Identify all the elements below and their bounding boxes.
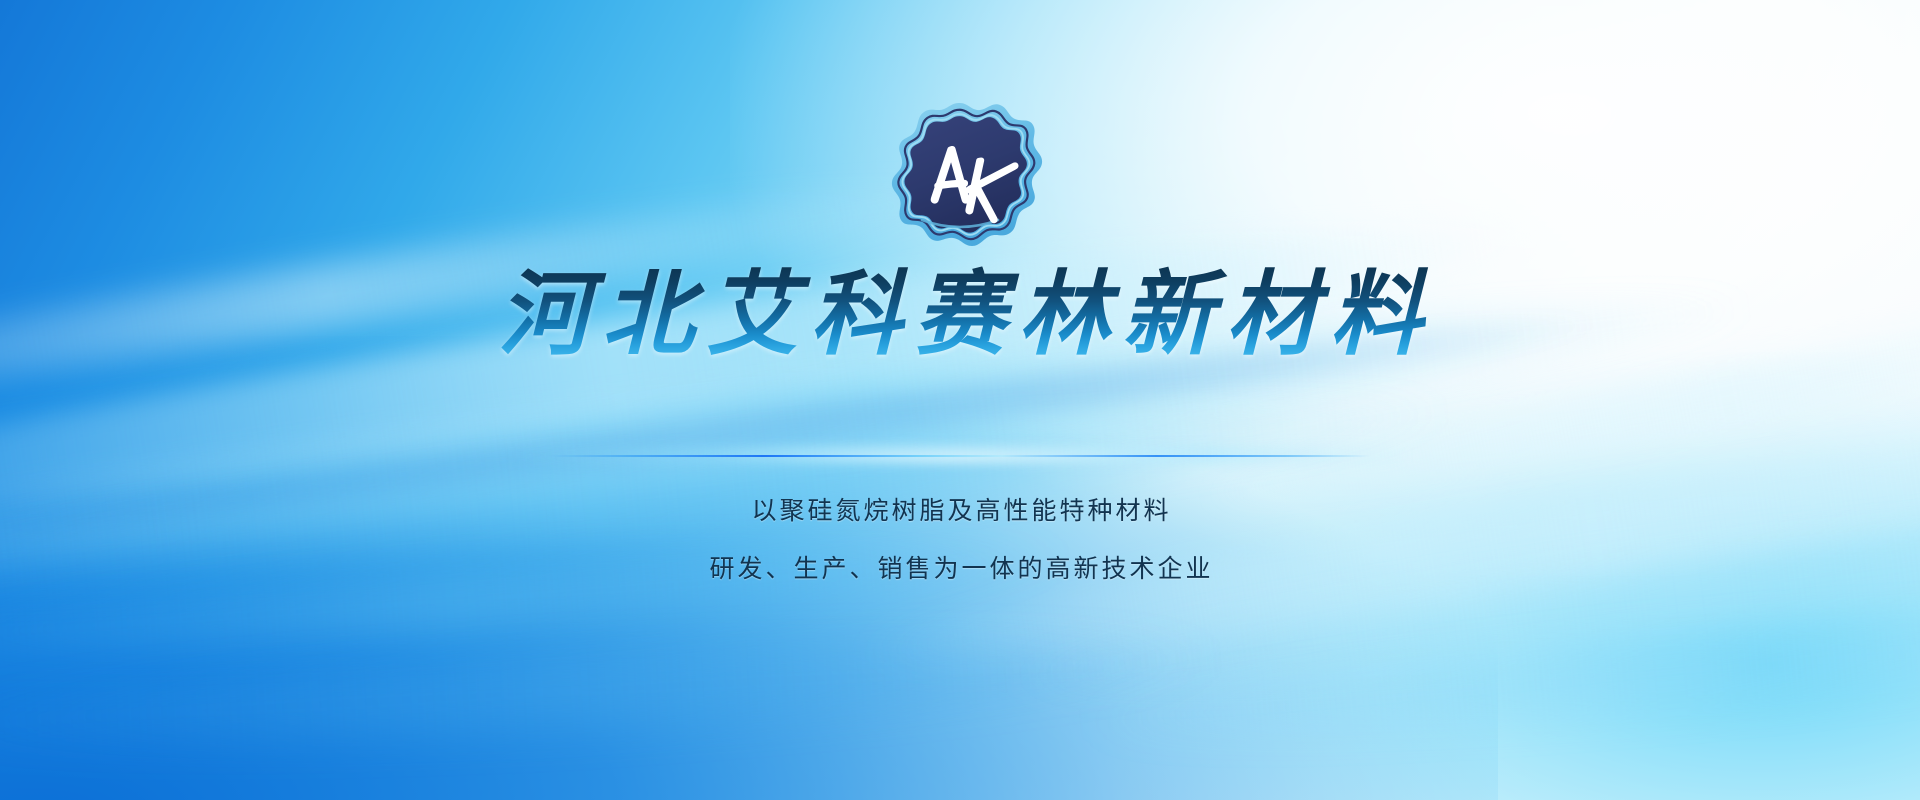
company-tagline: 以聚硅氮烷树脂及高性能特种材料 研发、生产、销售为一体的高新技术企业 — [706, 491, 1213, 585]
ak-seal-badge-icon — [880, 100, 1040, 260]
company-title: 河北艾科赛林新材料 — [486, 266, 1434, 364]
tagline-line-2: 研发、生产、销售为一体的高新技术企业 — [706, 549, 1213, 585]
ak-seal-badge-logo — [880, 100, 1040, 260]
hero-banner: 河北艾科赛林新材料 以聚硅氮烷树脂及高性能特种材料 研发、生产、销售为一体的高新… — [0, 0, 1920, 800]
banner-content: 河北艾科赛林新材料 以聚硅氮烷树脂及高性能特种材料 研发、生产、销售为一体的高新… — [0, 0, 1920, 800]
glow-divider — [550, 451, 1370, 461]
divider-core — [550, 455, 1370, 457]
tagline-line-1: 以聚硅氮烷树脂及高性能特种材料 — [748, 491, 1171, 527]
